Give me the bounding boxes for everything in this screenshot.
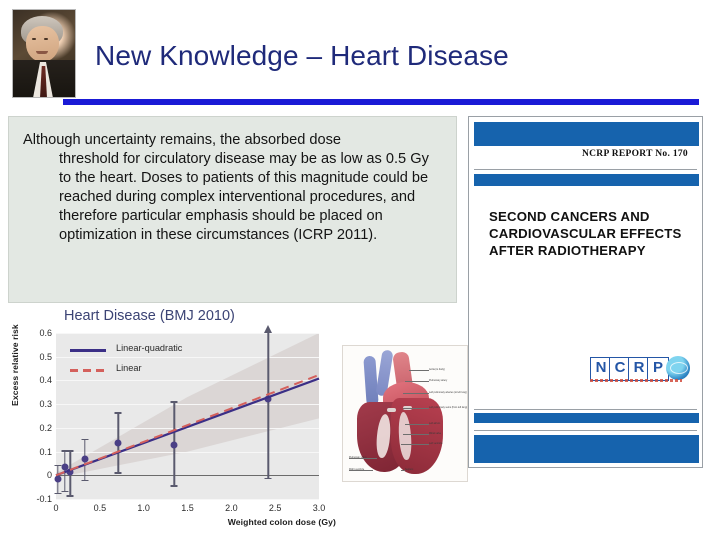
- body-line-first: Although uncertainty remains, the absorb…: [23, 132, 341, 148]
- cover-title-line-1: SECOND CANCERS AND: [489, 208, 684, 225]
- cover-title-line-2: CARDIOVASCULAR EFFECTS: [489, 225, 684, 242]
- heart-label-leader: [403, 408, 429, 409]
- portrait-mouth: [36, 51, 48, 54]
- globe-icon: [666, 356, 690, 380]
- x-tick-label: 2.5: [269, 503, 282, 513]
- heart-label: Left atrium: [429, 422, 440, 425]
- y-tick-label: 0.6: [26, 328, 52, 338]
- error-bar-arrowhead: [264, 325, 272, 333]
- cover-rule-3: [474, 430, 697, 431]
- chart-y-axis-label: Excess relative risk: [10, 324, 20, 406]
- body-line-rest: threshold for circulatory disease may be…: [23, 150, 440, 245]
- heart-label: Left ventricle: [429, 442, 443, 445]
- heart-label: Septum: [405, 468, 413, 471]
- ncrp-cover-title: SECOND CANCERS AND CARDIOVASCULAR EFFECT…: [489, 208, 684, 259]
- portrait-face: [26, 26, 59, 62]
- vena-cava-shape: [363, 356, 378, 407]
- x-tick-label: 1.0: [137, 503, 150, 513]
- chart-title: Heart Disease (BMJ 2010): [64, 308, 235, 324]
- y-tick-label: 0.3: [26, 399, 52, 409]
- cover-band-top: [474, 122, 699, 146]
- y-tick-label: 0.4: [26, 375, 52, 385]
- chart-x-axis-label: Weighted colon dose (Gy): [228, 517, 336, 527]
- x-tick-label: 1.5: [181, 503, 194, 513]
- y-tick-label: 0.2: [26, 423, 52, 433]
- legend-swatch-solid: [70, 349, 106, 352]
- y-tick-label: -0.1: [26, 494, 52, 504]
- pulmonary-valve-shape: [387, 408, 396, 412]
- chart-plot-area: Linear-quadratic Linear: [56, 333, 319, 499]
- portrait-eye-left: [32, 38, 36, 40]
- chart-fit-lines: [56, 333, 319, 499]
- title-divider: [63, 99, 699, 105]
- y-tick-label: 0: [26, 470, 52, 480]
- cover-band-second: [474, 174, 699, 186]
- heart-label-leader: [349, 458, 377, 459]
- heart-label: Left pulmonary arteries (to left lung): [429, 391, 467, 394]
- cover-rule-1: [474, 169, 697, 170]
- chart-y-ticks: 0.60.50.40.30.20.10-0.1: [24, 333, 52, 499]
- cover-band-third: [474, 413, 699, 423]
- heart-label-leader: [349, 470, 373, 471]
- heart-label-leader: [403, 434, 429, 435]
- y-tick-label: 0.1: [26, 447, 52, 457]
- heart-label: Mitral valve: [429, 432, 441, 435]
- heart-label-leader: [405, 424, 429, 425]
- body-textbox: Although uncertainty remains, the absorb…: [8, 116, 457, 303]
- x-tick-label: 0: [53, 503, 58, 513]
- legend-swatch-dashed: [70, 369, 106, 372]
- gridline: [56, 499, 319, 500]
- heart-label-leader: [403, 393, 429, 394]
- page-title: New Knowledge – Heart Disease: [95, 40, 509, 72]
- portrait-photo: [12, 9, 76, 98]
- legend-label-linear: Linear: [116, 363, 142, 373]
- ncrp-logo-tagline: [590, 379, 682, 382]
- heart-anatomy-figure: Aorta (to body)Pulmonary arteryLeft pulm…: [342, 345, 468, 482]
- ncrp-report-number: NCRP REPORT No. 170: [582, 149, 688, 159]
- ncrp-logo: N C R P: [590, 357, 694, 383]
- cover-rule-2: [474, 409, 697, 410]
- cover-band-bottom: [474, 435, 699, 463]
- body-paragraph: Although uncertainty remains, the absorb…: [9, 117, 456, 245]
- x-tick-label: 2.0: [225, 503, 238, 513]
- cover-title-line-3: AFTER RADIOTHERAPY: [489, 242, 684, 259]
- heart-label-leader: [405, 381, 429, 382]
- ncrp-report-cover: NCRP REPORT No. 170 SECOND CANCERS AND C…: [468, 116, 703, 468]
- heart-label: Pulmonary artery: [429, 379, 447, 382]
- chart-x-ticks: 00.51.01.52.02.53.0: [56, 503, 319, 517]
- heart-label-leader: [401, 444, 429, 445]
- heart-label: Aorta (to body): [429, 368, 445, 371]
- heart-label: Left pulmonary veins (from left lung): [429, 406, 467, 409]
- portrait-eye-right: [44, 38, 48, 40]
- heart-disease-chart: Heart Disease (BMJ 2010) Excess relative…: [8, 306, 342, 536]
- heart-label-leader: [401, 470, 405, 471]
- heart-label-leader: [409, 370, 429, 371]
- legend-label-linear-quadratic: Linear-quadratic: [116, 343, 182, 353]
- y-tick-label: 0.5: [26, 352, 52, 362]
- x-tick-label: 0.5: [94, 503, 107, 513]
- x-tick-label: 3.0: [313, 503, 326, 513]
- slide-root: New Knowledge – Heart Disease Although u…: [0, 0, 720, 538]
